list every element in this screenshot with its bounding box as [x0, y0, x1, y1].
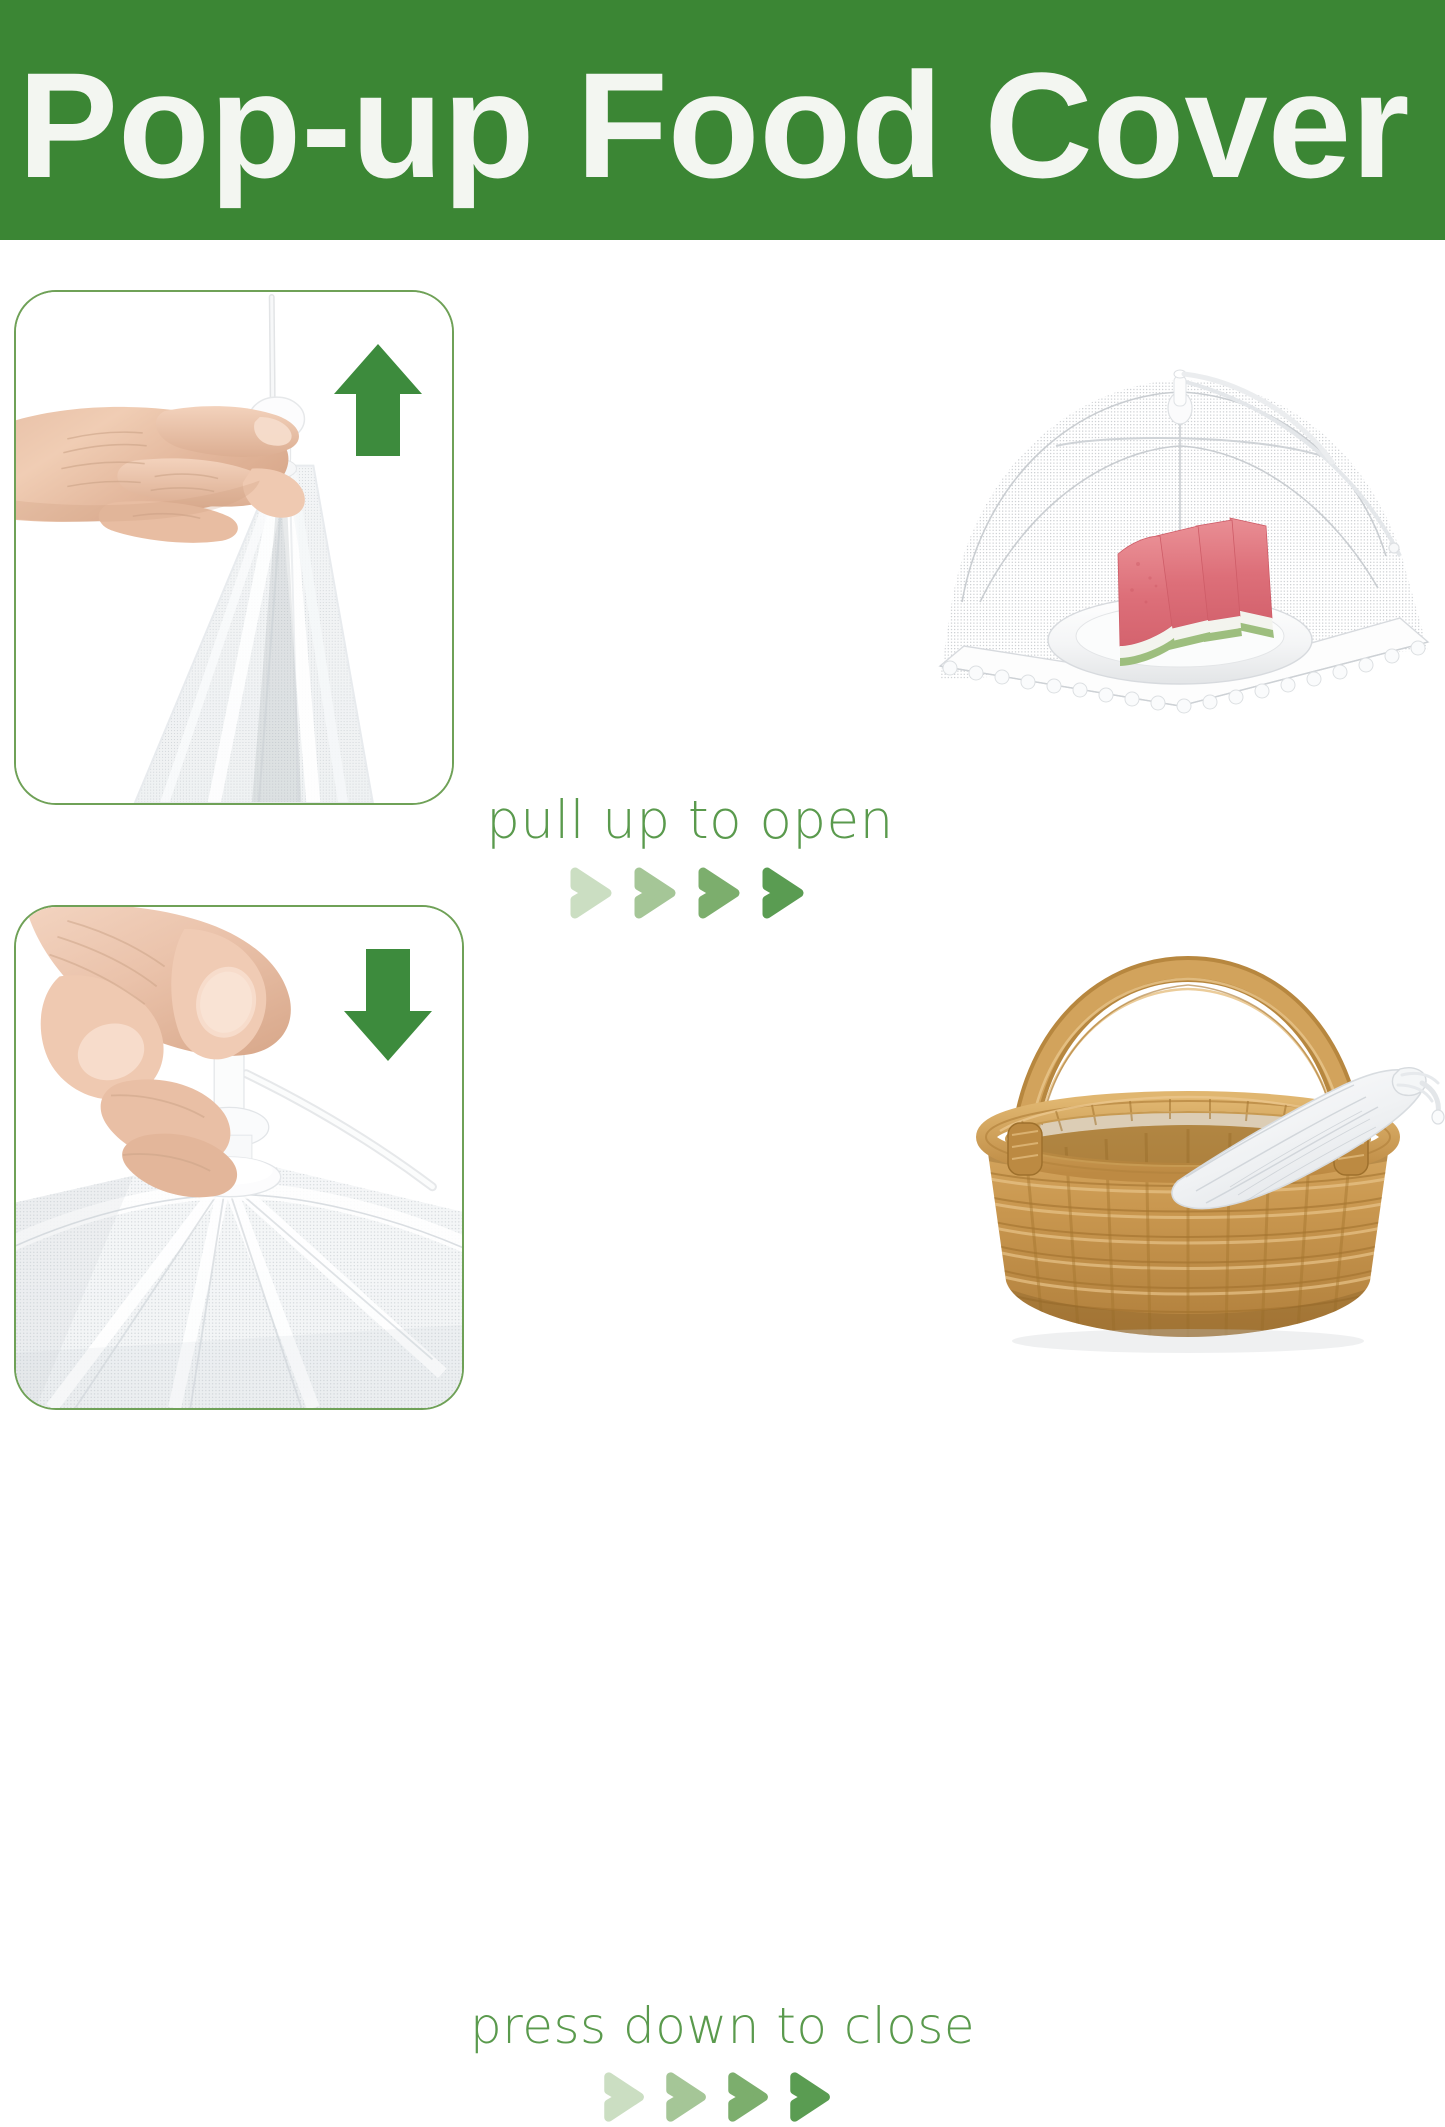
arrow-up-icon [332, 340, 424, 460]
caption-label-open: pull up to open [480, 790, 900, 852]
caption-label-close: press down to close [470, 1995, 970, 2057]
page-title: Pop-up Food Cover [18, 50, 1430, 200]
arrow-down-badge [342, 945, 434, 1070]
chevron-sequence-close [470, 2067, 970, 2127]
arrow-up-badge [332, 340, 424, 465]
arrow-down-icon [342, 945, 434, 1065]
chevron-right-icon-3 [721, 2067, 781, 2127]
basket-with-folded-cover-scene [930, 925, 1445, 1365]
step-photo-panel-open [14, 290, 454, 805]
chevron-right-icon-2 [659, 2067, 719, 2127]
open-food-cover-scene [880, 350, 1440, 730]
chevron-right-icon-4 [783, 2067, 843, 2127]
header-banner: Pop-up Food Cover [0, 0, 1445, 240]
step-photo-panel-close [14, 905, 464, 1410]
step-caption-close: press down to close [470, 1995, 970, 2127]
chevron-right-icon-1 [597, 2067, 657, 2127]
step-caption-open: pull up to open [480, 790, 900, 924]
